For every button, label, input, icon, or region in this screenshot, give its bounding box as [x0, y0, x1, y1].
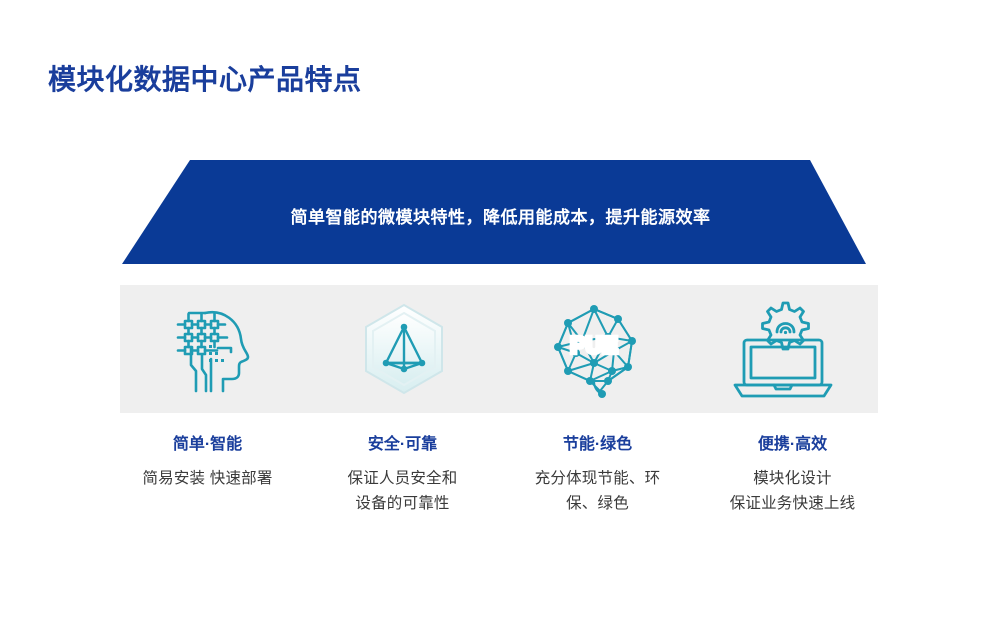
- hexagon-shield-pyramid-icon: [354, 299, 454, 399]
- feature-body-2-line-2: 设备的可靠性: [311, 491, 494, 516]
- icon-cell-safe-reliable: [310, 285, 500, 413]
- icon-cell-portable-efficient: [689, 285, 879, 413]
- ai-head-circuit-icon: [165, 299, 265, 399]
- pue-brain-network-icon: PUE PUE: [542, 297, 646, 401]
- feature-columns: 简单·智能 简易安装 快速部署 安全·可靠 保证人员安全和 设备的可靠性 节能·…: [110, 434, 890, 516]
- laptop-gear-icon: [731, 299, 835, 399]
- icon-row: PUE PUE: [120, 285, 878, 413]
- feature-body-2: 保证人员安全和 设备的可靠性: [311, 466, 494, 516]
- feature-heading-2: 安全·可靠: [311, 434, 494, 456]
- pue-label-fill: PUE: [570, 332, 617, 358]
- slide-root: { "slide": { "title": "模块化数据中心产品特点", "ti…: [0, 0, 1001, 625]
- feature-column-3: 节能·绿色 充分体现节能、环 保、绿色: [500, 434, 695, 516]
- feature-heading-1: 简单·智能: [116, 434, 299, 456]
- banner-trapezoid-shape: [0, 158, 1001, 266]
- feature-heading-4: 便携·高效: [701, 434, 884, 456]
- icon-cell-simple-smart: [120, 285, 310, 413]
- feature-body-2-line-1: 保证人员安全和: [311, 466, 494, 491]
- feature-body-4-line-1: 模块化设计: [701, 466, 884, 491]
- feature-body-3: 充分体现节能、环 保、绿色: [506, 466, 689, 516]
- icon-cell-energy-green: PUE PUE: [499, 285, 689, 413]
- feature-body-4: 模块化设计 保证业务快速上线: [701, 466, 884, 516]
- banner: 简单智能的微模块特性，降低用能成本，提升能源效率: [0, 158, 1001, 266]
- feature-body-3-line-1: 充分体现节能、环: [506, 466, 689, 491]
- feature-column-1: 简单·智能 简易安装 快速部署: [110, 434, 305, 516]
- feature-body-1-line-1: 简易安装 快速部署: [116, 466, 299, 491]
- feature-heading-3: 节能·绿色: [506, 434, 689, 456]
- feature-column-2: 安全·可靠 保证人员安全和 设备的可靠性: [305, 434, 500, 516]
- feature-body-1: 简易安装 快速部署: [116, 466, 299, 491]
- page-title: 模块化数据中心产品特点: [48, 58, 362, 98]
- feature-column-4: 便携·高效 模块化设计 保证业务快速上线: [695, 434, 890, 516]
- feature-body-3-line-2: 保、绿色: [506, 491, 689, 516]
- feature-body-4-line-2: 保证业务快速上线: [701, 491, 884, 516]
